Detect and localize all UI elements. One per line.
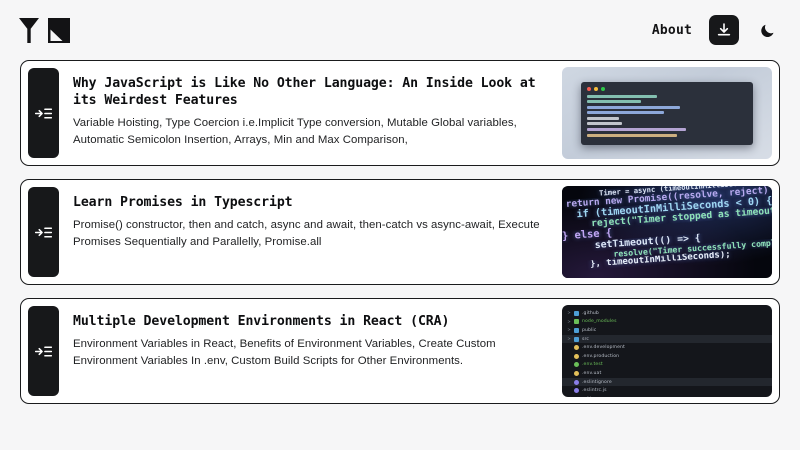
card-title: Why JavaScript is Like No Other Language… bbox=[73, 75, 552, 109]
indent-arrow-icon bbox=[35, 106, 52, 121]
folder-icon bbox=[574, 319, 579, 324]
file-tree-row[interactable]: .eslintignore bbox=[562, 378, 772, 387]
about-link[interactable]: About bbox=[652, 23, 692, 38]
file-name: src bbox=[582, 337, 589, 342]
indent-arrow-icon bbox=[35, 225, 52, 240]
card-text: Why JavaScript is Like No Other Language… bbox=[59, 68, 562, 158]
code-line bbox=[587, 122, 622, 125]
header-actions: About bbox=[652, 15, 778, 45]
logo-k-icon bbox=[47, 15, 71, 45]
file-tree-row[interactable]: >.github bbox=[562, 309, 772, 318]
file-icon bbox=[574, 371, 579, 376]
file-icon bbox=[574, 345, 579, 350]
card-text: Learn Promises in Typescript Promise() c… bbox=[59, 187, 562, 277]
card-description: Environment Variables in React, Benefits… bbox=[73, 336, 552, 369]
file-icon bbox=[574, 388, 579, 393]
download-button[interactable] bbox=[709, 15, 739, 45]
article-card[interactable]: Multiple Development Environments in Rea… bbox=[20, 298, 780, 404]
folder-icon bbox=[574, 328, 579, 333]
download-icon bbox=[716, 22, 732, 38]
indent-arrow-icon bbox=[35, 344, 52, 359]
chevron-right-icon: > bbox=[567, 311, 571, 315]
file-tree-row[interactable]: .env.uat bbox=[562, 369, 772, 378]
chevron-right-icon: > bbox=[567, 337, 571, 341]
file-tree-row[interactable]: .gitignore bbox=[562, 395, 772, 397]
code-line bbox=[587, 128, 686, 131]
theme-toggle-button[interactable] bbox=[756, 19, 778, 41]
card-description: Variable Hoisting, Type Coercion i.e.Imp… bbox=[73, 115, 552, 148]
file-tree-row[interactable]: >node_modules bbox=[562, 318, 772, 327]
file-icon bbox=[574, 380, 579, 385]
card-thumbnail bbox=[562, 67, 772, 159]
card-description: Promise() constructor, then and catch, a… bbox=[73, 217, 552, 250]
file-name: .eslintignore bbox=[582, 380, 612, 385]
site-header: About bbox=[0, 0, 800, 60]
card-open-tab[interactable] bbox=[28, 187, 59, 277]
code-photo: Timer = async (timeoutInMilliSecondsretu… bbox=[562, 186, 772, 278]
traffic-light-dot bbox=[587, 87, 591, 91]
code-line bbox=[587, 100, 641, 103]
file-icon bbox=[574, 354, 579, 359]
window-traffic-lights bbox=[587, 87, 747, 91]
code-lines bbox=[587, 95, 747, 137]
file-tree-row[interactable]: >public bbox=[562, 326, 772, 335]
folder-icon bbox=[574, 311, 579, 316]
file-name: .env.production bbox=[582, 354, 619, 359]
code-line bbox=[587, 117, 619, 120]
card-thumbnail: >.github>node_modules>public>src.env.dev… bbox=[562, 305, 772, 397]
yk-logo[interactable] bbox=[18, 15, 71, 45]
file-tree-row[interactable]: .env.development bbox=[562, 343, 772, 352]
card-title: Multiple Development Environments in Rea… bbox=[73, 313, 552, 330]
code-line bbox=[587, 106, 680, 109]
card-text: Multiple Development Environments in Rea… bbox=[59, 306, 562, 396]
code-line bbox=[587, 95, 657, 98]
file-icon bbox=[574, 362, 579, 367]
chevron-right-icon: > bbox=[567, 320, 571, 324]
file-explorer-tree: >.github>node_modules>public>src.env.dev… bbox=[562, 309, 772, 397]
file-name: .eslintrc.js bbox=[582, 388, 607, 393]
article-card[interactable]: Why JavaScript is Like No Other Language… bbox=[20, 60, 780, 166]
file-name: public bbox=[582, 328, 596, 333]
card-title: Learn Promises in Typescript bbox=[73, 194, 552, 211]
card-open-tab[interactable] bbox=[28, 306, 59, 396]
code-window-mockup bbox=[581, 82, 753, 145]
file-name: .env.test bbox=[582, 362, 603, 367]
file-tree-row[interactable]: .env.production bbox=[562, 352, 772, 361]
card-thumbnail: Timer = async (timeoutInMilliSecondsretu… bbox=[562, 186, 772, 278]
article-card[interactable]: Learn Promises in Typescript Promise() c… bbox=[20, 179, 780, 285]
traffic-light-dot bbox=[601, 87, 605, 91]
code-line bbox=[587, 134, 677, 137]
article-card-list: Why JavaScript is Like No Other Language… bbox=[0, 60, 800, 404]
traffic-light-dot bbox=[594, 87, 598, 91]
moon-icon bbox=[759, 22, 776, 39]
code-line bbox=[587, 111, 664, 114]
card-open-tab[interactable] bbox=[28, 68, 59, 158]
file-name: .env.development bbox=[582, 345, 625, 350]
logo-y-icon bbox=[18, 15, 44, 45]
file-tree-row[interactable]: >src bbox=[562, 335, 772, 344]
file-tree-row[interactable]: .env.test bbox=[562, 361, 772, 370]
folder-icon bbox=[574, 337, 579, 342]
file-tree-row[interactable]: .eslintrc.js bbox=[562, 386, 772, 395]
file-name: node_modules bbox=[582, 319, 617, 324]
chevron-right-icon: > bbox=[567, 328, 571, 332]
file-name: .env.uat bbox=[582, 371, 601, 376]
file-name: .github bbox=[582, 311, 599, 316]
